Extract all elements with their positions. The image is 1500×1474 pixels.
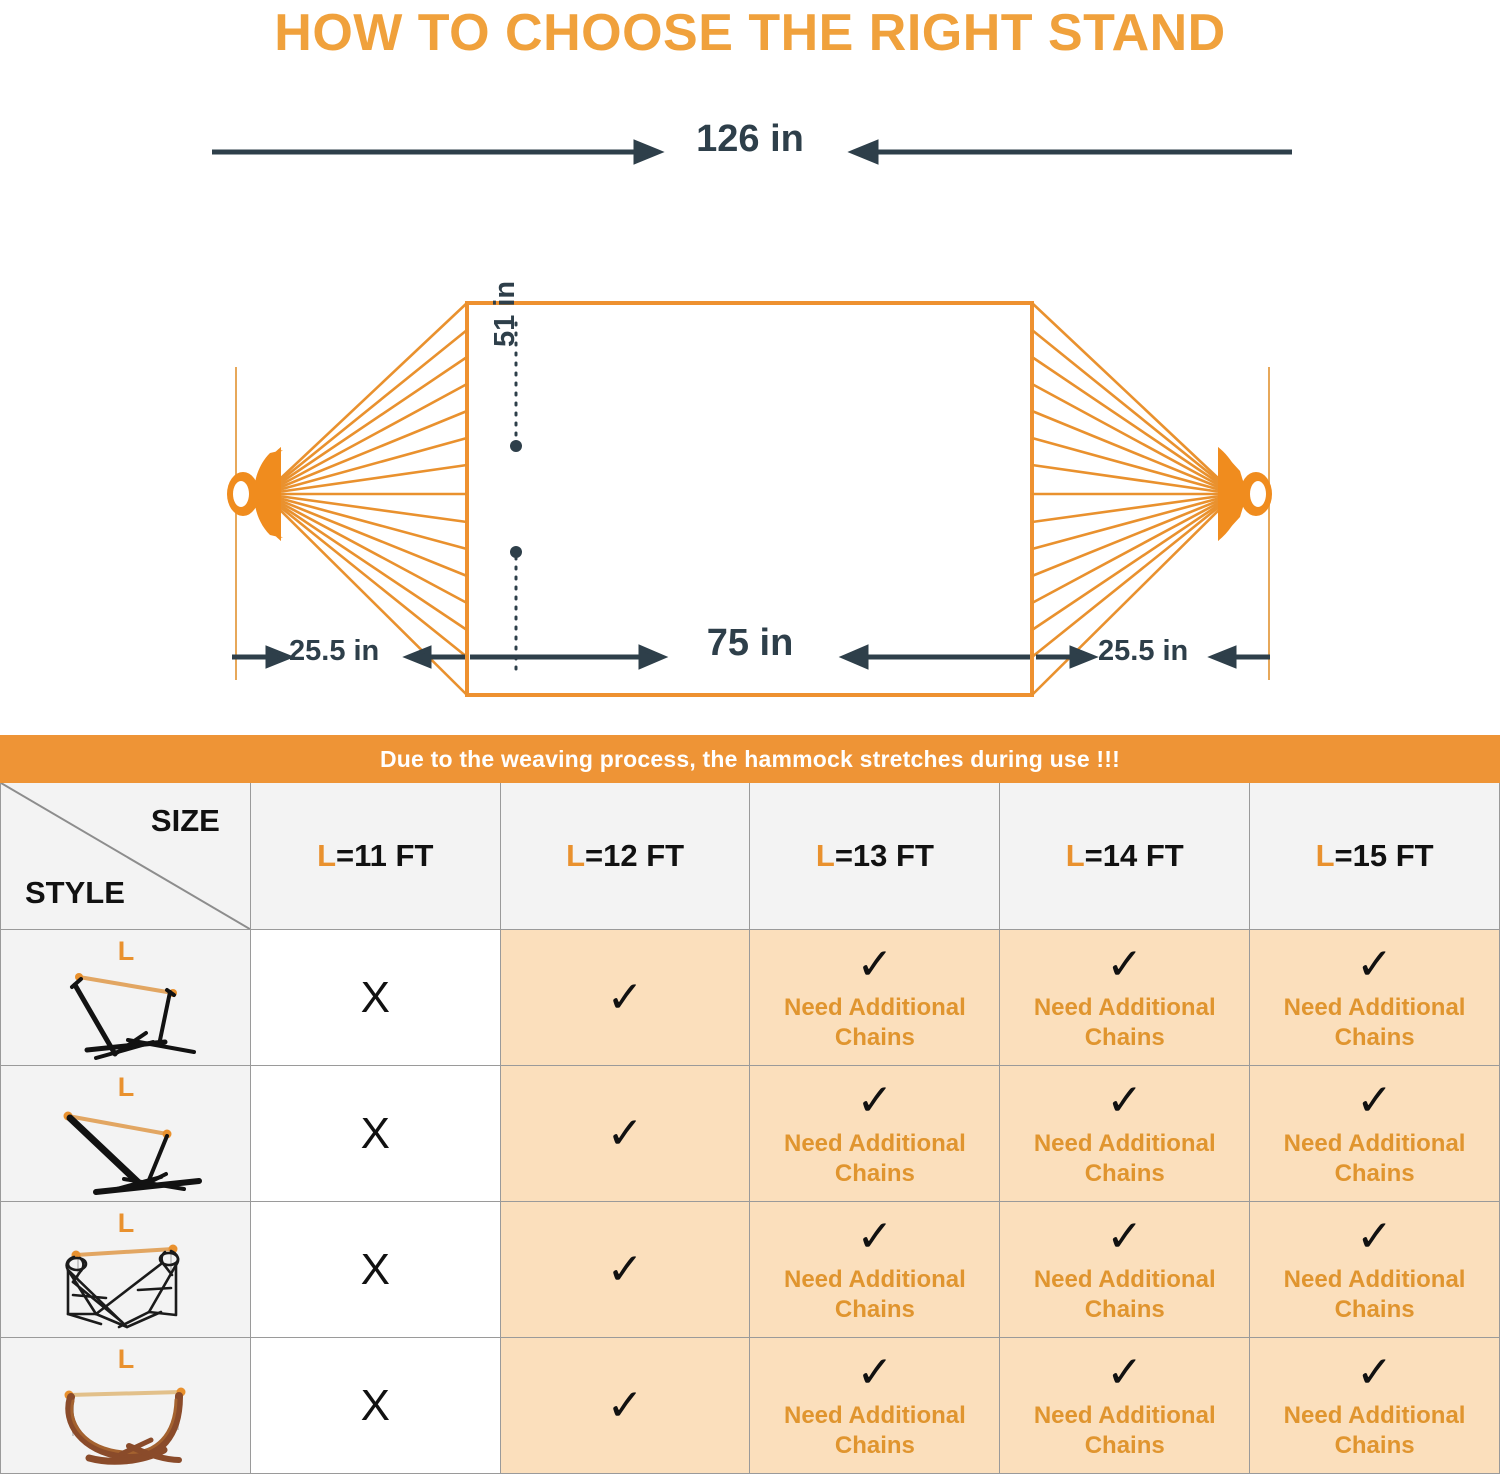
- cell-r3-c1: X: [250, 1202, 500, 1338]
- v-shaped-stand-icon: [1, 1202, 251, 1337]
- cell-r4-c3: ✓Need Additional Chains: [750, 1338, 1000, 1474]
- dim-label-bed-height: 51 in: [489, 281, 522, 347]
- cell-r1-c4: ✓Need Additional Chains: [1000, 930, 1250, 1066]
- dim-label-right-gather: 25.5 in: [1098, 635, 1188, 668]
- x-mark-icon: X: [361, 1384, 390, 1428]
- additional-chains-note: Need Additional Chains: [1250, 1265, 1499, 1325]
- hammock-diagram-svg: [0, 95, 1500, 705]
- cell-r1-c1: X: [250, 930, 500, 1066]
- column-header-text: =15 FT: [1335, 838, 1434, 873]
- x-mark-icon: X: [361, 1248, 390, 1292]
- style-cell-trapezoid-metal-stand: L: [1, 930, 251, 1066]
- hammock-dimension-diagram: 126 in 51 in 75 in 25.5 in 25.5 in: [0, 95, 1500, 705]
- dim-label-left-gather: 25.5 in: [289, 635, 379, 668]
- cell-r2-c4: ✓Need Additional Chains: [1000, 1066, 1250, 1202]
- check-mark-icon: ✓: [607, 1112, 644, 1156]
- check-mark-icon: ✓: [1356, 1215, 1393, 1259]
- table-row: L: [1, 1066, 1500, 1202]
- check-mark-icon: ✓: [607, 1384, 644, 1428]
- column-header-text: =12 FT: [585, 838, 684, 873]
- column-header-l12[interactable]: L=12 FT: [500, 783, 750, 930]
- additional-chains-note: Need Additional Chains: [1250, 1129, 1499, 1189]
- stretch-warning-banner: Due to the weaving process, the hammock …: [1, 736, 1500, 783]
- cell-r2-c5: ✓Need Additional Chains: [1250, 1066, 1500, 1202]
- table-header-row: SIZE STYLE L=11 FT L=12 FT L=13 FT L=14 …: [1, 783, 1500, 930]
- cell-r4-c1: X: [250, 1338, 500, 1474]
- cell-r3-c5: ✓Need Additional Chains: [1250, 1202, 1500, 1338]
- trapezoid-metal-stand-icon: [1, 930, 251, 1065]
- check-mark-icon: ✓: [1356, 1079, 1393, 1123]
- check-mark-icon: ✓: [1106, 1079, 1143, 1123]
- check-mark-icon: ✓: [607, 976, 644, 1020]
- cell-r2-c1: X: [250, 1066, 500, 1202]
- check-mark-icon: ✓: [1106, 1215, 1143, 1259]
- column-header-l15[interactable]: L=15 FT: [1250, 783, 1500, 930]
- table-row: L: [1, 1202, 1500, 1338]
- cell-r3-c4: ✓Need Additional Chains: [1000, 1202, 1250, 1338]
- column-header-text: =13 FT: [835, 838, 934, 873]
- cell-r4-c5: ✓Need Additional Chains: [1250, 1338, 1500, 1474]
- stand-compatibility-table: Due to the weaving process, the hammock …: [0, 735, 1500, 1463]
- additional-chains-note: Need Additional Chains: [1000, 1129, 1249, 1189]
- additional-chains-note: Need Additional Chains: [750, 1265, 999, 1325]
- right-gather-knot: [1218, 447, 1272, 541]
- corner-size-label: SIZE: [151, 803, 220, 839]
- cell-r3-c2: ✓: [500, 1202, 750, 1338]
- check-mark-icon: ✓: [856, 1215, 893, 1259]
- cell-r2-c3: ✓Need Additional Chains: [750, 1066, 1000, 1202]
- cell-r2-c2: ✓: [500, 1066, 750, 1202]
- check-mark-icon: ✓: [607, 1248, 644, 1292]
- l-badge: L: [1066, 838, 1085, 873]
- corner-header-cell: SIZE STYLE: [1, 783, 251, 930]
- check-mark-icon: ✓: [1106, 1351, 1143, 1395]
- check-mark-icon: ✓: [1106, 943, 1143, 987]
- check-mark-icon: ✓: [856, 943, 893, 987]
- cell-r3-c3: ✓Need Additional Chains: [750, 1202, 1000, 1338]
- column-header-l11[interactable]: L=11 FT: [250, 783, 500, 930]
- page-title: HOW TO CHOOSE THE RIGHT STAND: [0, 2, 1500, 64]
- cell-r4-c2: ✓: [500, 1338, 750, 1474]
- check-mark-icon: ✓: [1356, 943, 1393, 987]
- column-header-l13[interactable]: L=13 FT: [750, 783, 1000, 930]
- cell-r1-c5: ✓Need Additional Chains: [1250, 930, 1500, 1066]
- x-mark-icon: X: [361, 1112, 390, 1156]
- cell-r4-c4: ✓Need Additional Chains: [1000, 1338, 1250, 1474]
- slanted-metal-stand-icon: [1, 1066, 251, 1201]
- style-cell-v-shaped-stand: L: [1, 1202, 251, 1338]
- cell-r1-c3: ✓Need Additional Chains: [750, 930, 1000, 1066]
- additional-chains-note: Need Additional Chains: [1000, 993, 1249, 1053]
- table-banner-row: Due to the weaving process, the hammock …: [1, 736, 1500, 783]
- table-row: L: [1, 1338, 1500, 1474]
- additional-chains-note: Need Additional Chains: [1250, 993, 1499, 1053]
- additional-chains-note: Need Additional Chains: [1250, 1401, 1499, 1461]
- cell-r1-c2: ✓: [500, 930, 750, 1066]
- dim-label-bed-width: 75 in: [0, 622, 1500, 665]
- additional-chains-note: Need Additional Chains: [750, 1401, 999, 1461]
- column-header-text: =14 FT: [1085, 838, 1184, 873]
- l-badge: L: [317, 838, 336, 873]
- column-header-text: =11 FT: [336, 838, 433, 873]
- table-row: L: [1, 930, 1500, 1066]
- wooden-arc-stand-icon: [1, 1338, 251, 1473]
- dim-dot-top: [510, 440, 522, 452]
- check-mark-icon: ✓: [856, 1351, 893, 1395]
- style-cell-wooden-arc-stand: L: [1, 1338, 251, 1474]
- additional-chains-note: Need Additional Chains: [750, 1129, 999, 1189]
- style-cell-slanted-metal-stand: L: [1, 1066, 251, 1202]
- l-badge: L: [816, 838, 835, 873]
- dim-dot-bottom: [510, 546, 522, 558]
- dim-label-total-length: 126 in: [0, 118, 1500, 161]
- check-mark-icon: ✓: [856, 1079, 893, 1123]
- l-badge: L: [566, 838, 585, 873]
- additional-chains-note: Need Additional Chains: [750, 993, 999, 1053]
- l-badge: L: [1316, 838, 1335, 873]
- corner-style-label: STYLE: [25, 875, 125, 911]
- check-mark-icon: ✓: [1356, 1351, 1393, 1395]
- additional-chains-note: Need Additional Chains: [1000, 1401, 1249, 1461]
- column-header-l14[interactable]: L=14 FT: [1000, 783, 1250, 930]
- additional-chains-note: Need Additional Chains: [1000, 1265, 1249, 1325]
- x-mark-icon: X: [361, 976, 390, 1020]
